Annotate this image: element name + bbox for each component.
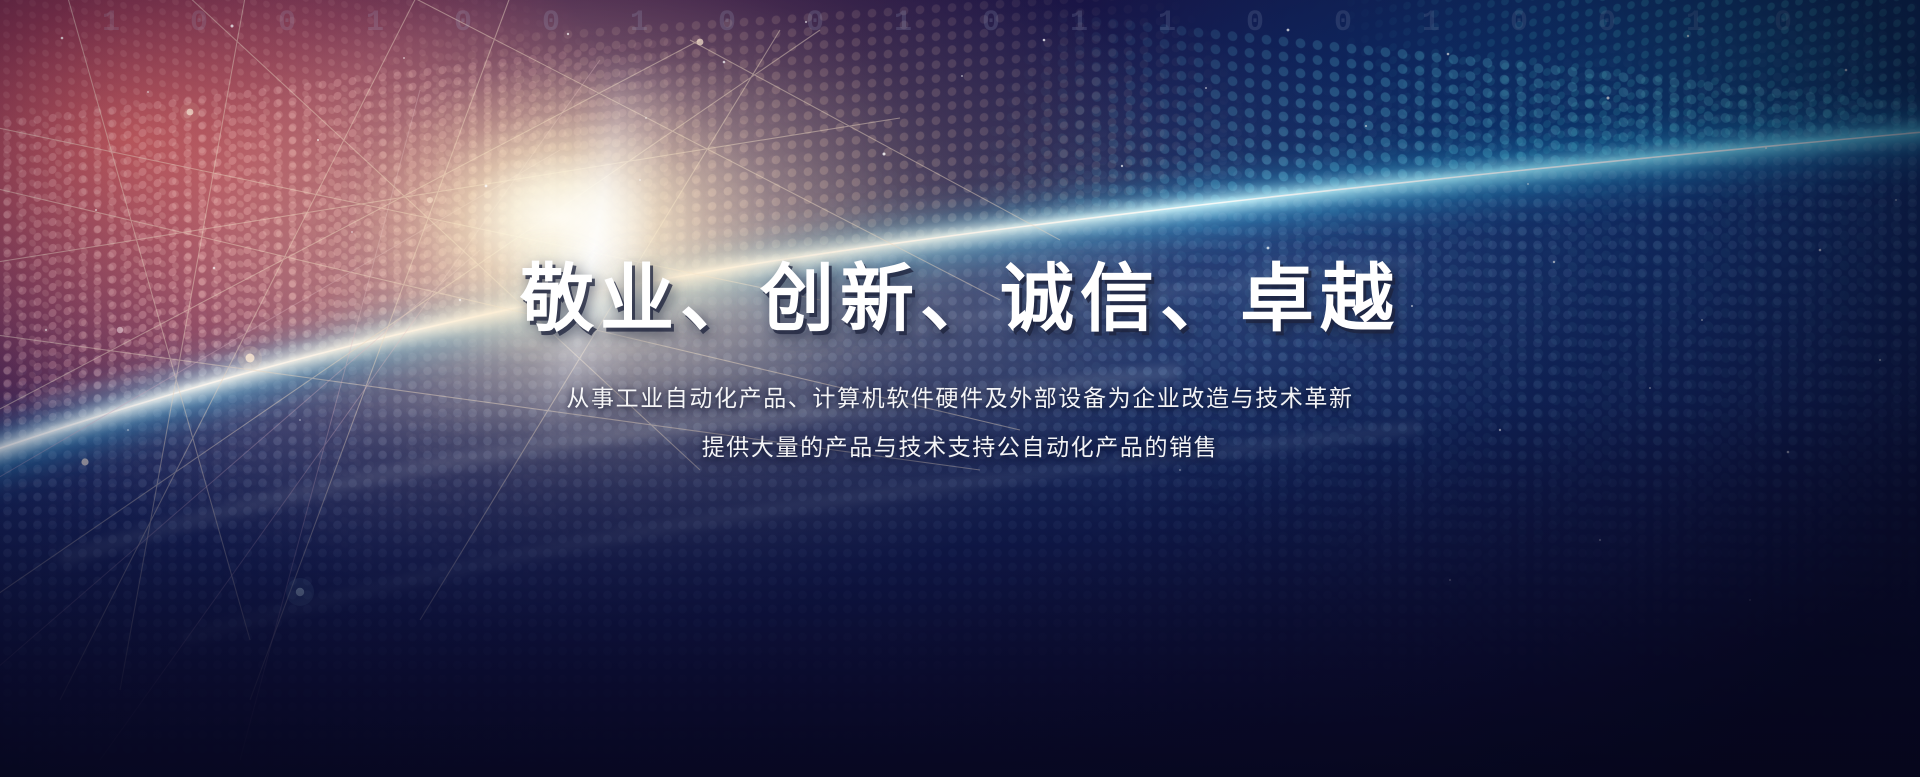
hero-text-block: 敬业、创新、诚信、卓越 从事工业自动化产品、计算机软件硬件及外部设备为企业改造与… — [0, 258, 1920, 459]
hero-headline: 敬业、创新、诚信、卓越 — [0, 258, 1920, 341]
hero-subtitle-line-1: 从事工业自动化产品、计算机软件硬件及外部设备为企业改造与技术革新 — [0, 387, 1920, 410]
hero-banner: 1 0 0 1 0 0 1 0 0 1 0 1 1 0 0 1 0 0 1 0 … — [0, 0, 1920, 777]
hero-subtitle-line-2: 提供大量的产品与技术支持公自动化产品的销售 — [0, 436, 1920, 459]
binary-code-strip: 1 0 0 1 0 0 1 0 0 1 0 1 1 0 0 1 0 0 1 0 — [0, 0, 1920, 46]
